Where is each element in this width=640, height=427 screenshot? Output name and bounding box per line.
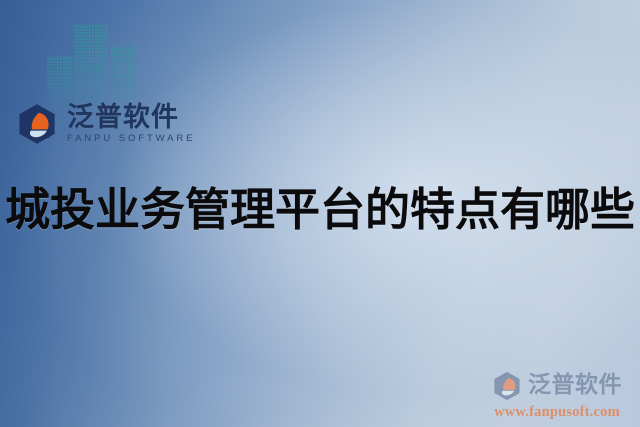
skyline-tower-right [111,46,136,108]
watermark-brand-name: 泛普软件 [528,374,622,397]
brand-wordmark: 泛普软件 FANPU SOFTWARE [67,104,195,145]
brand-logo: 泛普软件 FANPU SOFTWARE [16,103,195,145]
watermark-url: www.fanpusoft.com [494,405,620,420]
watermark-logo-row: 泛普软件 [492,371,622,401]
fanpu-hexagon-logo-icon [16,103,58,145]
fanpu-hexagon-logo-watermark-icon [492,371,522,401]
brand-name-cn: 泛普软件 [67,104,195,132]
promo-banner: 泛普软件 FANPU SOFTWARE 城投业务管理平台的特点有哪些 泛普软件 … [0,0,640,427]
page-title: 城投业务管理平台的特点有哪些 [0,181,640,239]
pixel-skyline-icon [44,16,140,108]
skyline-tower-left [47,56,72,108]
watermark: 泛普软件 www.fanpusoft.com [482,371,632,420]
brand-name-en: FANPU SOFTWARE [67,134,195,144]
skyline-tower-center [74,24,108,108]
